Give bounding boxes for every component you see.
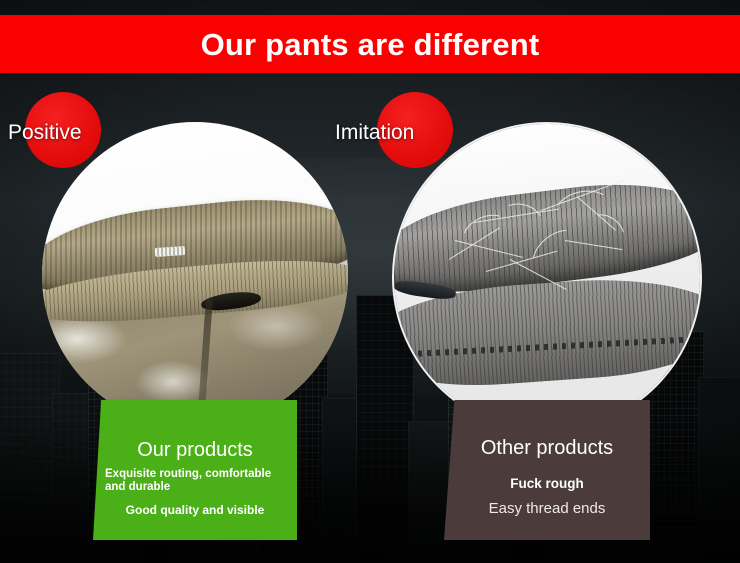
other-products-line-1: Fuck rough	[444, 476, 650, 492]
label-imitation: Imitation	[335, 122, 414, 143]
photo-genuine-waistband	[42, 122, 348, 428]
headline-banner: Our pants are different	[0, 15, 740, 73]
comparison-poster: Our pants are different	[0, 0, 740, 563]
other-products-line-2: Easy thread ends	[444, 500, 650, 517]
caption-panel-our-products: Our products Exquisite routing, comforta…	[93, 400, 297, 540]
caption-panel-other-products: Other products Fuck rough Easy thread en…	[444, 400, 650, 540]
other-products-title: Other products	[444, 438, 650, 458]
headline-text: Our pants are different	[201, 29, 540, 60]
photo-imitation-waistband	[392, 122, 702, 432]
label-positive: Positive	[8, 122, 82, 143]
our-products-title: Our products	[93, 440, 297, 460]
our-products-line-2: Good quality and visible	[93, 504, 297, 518]
our-products-line-1: Exquisite routing, comfortable and durab…	[93, 468, 297, 494]
